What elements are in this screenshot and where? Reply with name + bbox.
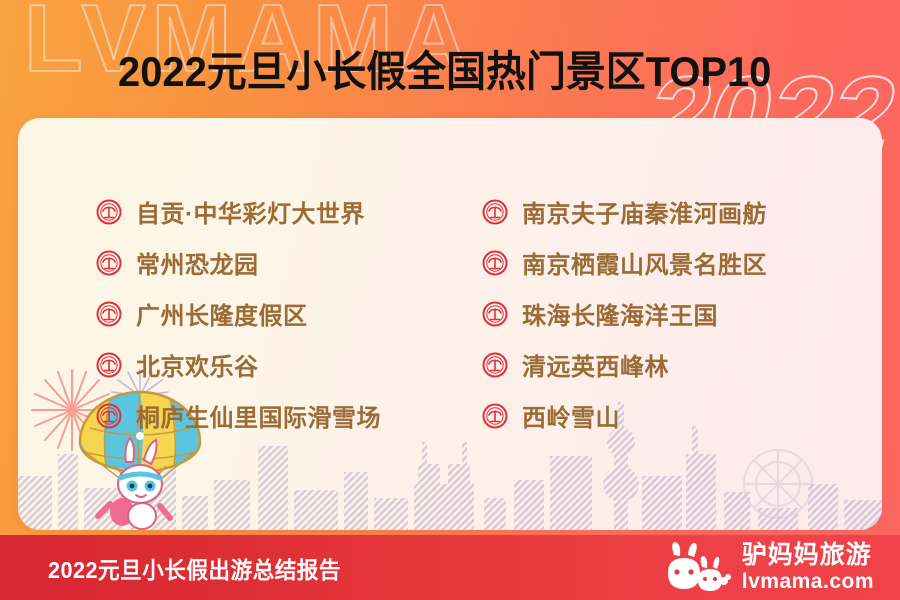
list-item-label: 南京栖霞山风景名胜区 bbox=[522, 245, 767, 280]
left-column: 自贡·中华彩灯大世界 常州恐龙园 bbox=[96, 186, 381, 441]
right-column: 南京夫子庙秦淮河画舫 南京栖霞山风景名胜区 bbox=[482, 186, 767, 441]
list-item-label: 自贡·中华彩灯大世界 bbox=[136, 194, 365, 229]
scenic-spot-icon bbox=[482, 250, 508, 276]
report-title: 2022元旦小长假出游总结报告 bbox=[48, 551, 341, 585]
brand-logo[interactable]: 驴妈妈旅游 lvmama.com bbox=[658, 541, 874, 595]
list-item-label: 珠海长隆海洋王国 bbox=[522, 296, 718, 331]
list-item-label: 北京欢乐谷 bbox=[136, 347, 259, 382]
scenic-spot-icon bbox=[96, 352, 122, 378]
list-item-label: 常州恐龙园 bbox=[136, 245, 259, 280]
list-item-label: 西岭雪山 bbox=[522, 398, 620, 433]
scenic-spot-list: 自贡·中华彩灯大世界 常州恐龙园 bbox=[18, 118, 882, 530]
list-item-label: 桐庐生仙里国际滑雪场 bbox=[136, 398, 381, 433]
list-item[interactable]: 南京夫子庙秦淮河画舫 bbox=[482, 186, 767, 237]
list-item[interactable]: 常州恐龙园 bbox=[96, 237, 381, 288]
list-item[interactable]: 广州长隆度假区 bbox=[96, 288, 381, 339]
rabbit-logo-icon bbox=[658, 541, 734, 595]
scenic-spot-icon bbox=[482, 403, 508, 429]
scenic-spot-icon bbox=[96, 199, 122, 225]
list-item[interactable]: 清远英西峰林 bbox=[482, 339, 767, 390]
footer-bar: 2022元旦小长假出游总结报告 bbox=[0, 535, 900, 600]
brand-name-en: lvmama.com bbox=[742, 571, 874, 592]
list-item[interactable]: 北京欢乐谷 bbox=[96, 339, 381, 390]
brand-name-cn: 驴妈妈旅游 bbox=[742, 543, 874, 568]
list-item[interactable]: 珠海长隆海洋王国 bbox=[482, 288, 767, 339]
scenic-spot-icon bbox=[482, 301, 508, 327]
list-item[interactable]: 南京栖霞山风景名胜区 bbox=[482, 237, 767, 288]
list-item-label: 南京夫子庙秦淮河画舫 bbox=[522, 194, 767, 229]
scenic-spot-icon bbox=[96, 301, 122, 327]
page-title: 2022元旦小长假全国热门景区TOP10 bbox=[118, 38, 771, 99]
scenic-spot-icon bbox=[96, 403, 122, 429]
list-item[interactable]: 西岭雪山 bbox=[482, 390, 767, 441]
list-item[interactable]: 桐庐生仙里国际滑雪场 bbox=[96, 390, 381, 441]
scenic-spot-icon bbox=[96, 250, 122, 276]
list-item-label: 广州长隆度假区 bbox=[136, 296, 308, 331]
scenic-spot-icon bbox=[482, 199, 508, 225]
scenic-spot-icon bbox=[482, 352, 508, 378]
content-card: 自贡·中华彩灯大世界 常州恐龙园 bbox=[18, 118, 882, 530]
list-item[interactable]: 自贡·中华彩灯大世界 bbox=[96, 186, 381, 237]
infographic-poster: LVMAMA 2022 2022元旦小长假全国热门景区TOP10 bbox=[0, 0, 900, 600]
list-item-label: 清远英西峰林 bbox=[522, 347, 669, 382]
brand-text: 驴妈妈旅游 lvmama.com bbox=[742, 543, 874, 592]
